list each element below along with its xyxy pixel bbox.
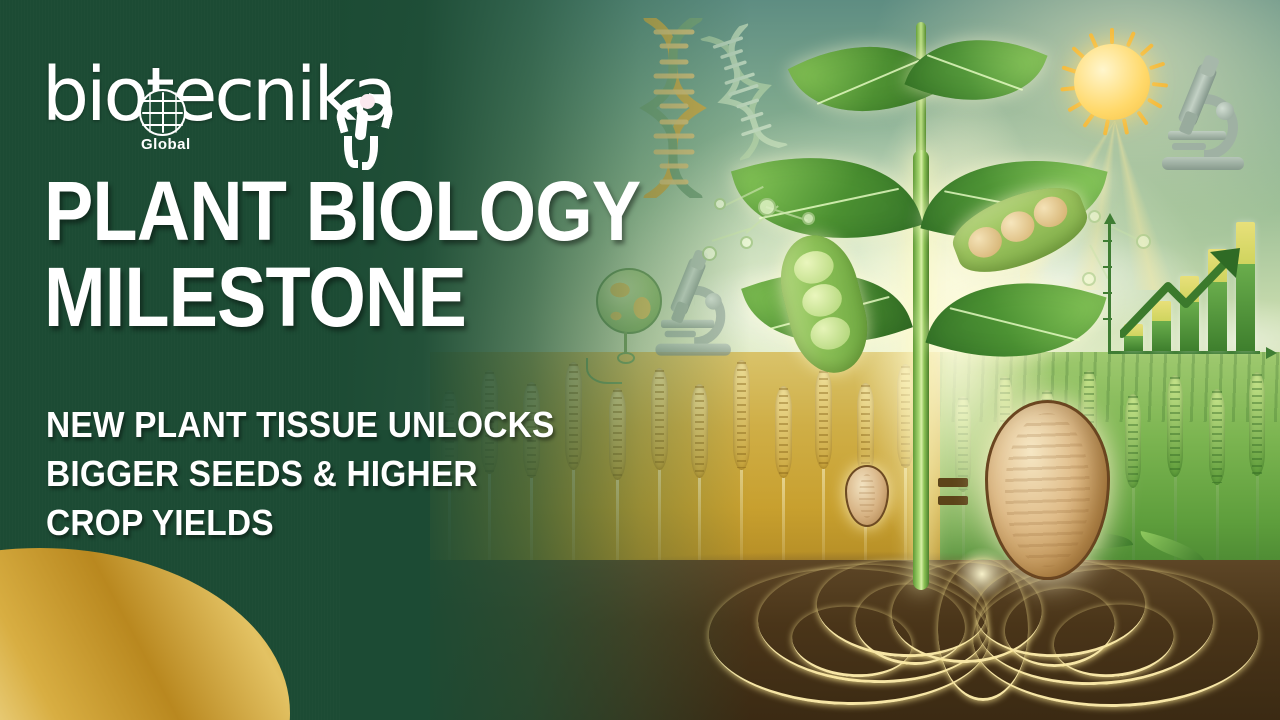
chart-y-arrowhead [1104, 213, 1116, 224]
chart-trend-arrow [1120, 246, 1250, 342]
page-subtitle: NEW PLANT TISSUE UNLOCKS BIGGER SEEDS & … [46, 400, 660, 547]
chart-x-axis [1108, 351, 1260, 354]
microscope-icon-right [1158, 60, 1252, 170]
page-title: PLANT BIOLOGY MILESTONE [44, 168, 660, 340]
growth-chart-icon [1108, 222, 1268, 372]
human-figure-icon [338, 94, 396, 168]
brand-tagline: Global [141, 136, 191, 153]
headline-line-1: PLANT BIOLOGY [44, 164, 640, 258]
roots-icon [700, 555, 1260, 720]
equals-sign [938, 478, 968, 510]
subhead-line-2: BIGGER SEEDS & HIGHER [46, 449, 660, 498]
subhead-line-3: CROP YIELDS [46, 498, 660, 547]
globe-wireframe-icon [139, 89, 186, 136]
subhead-line-1: NEW PLANT TISSUE UNLOCKS [46, 400, 660, 449]
brand-logo[interactable]: biotecnika Global [42, 56, 412, 144]
sun-icon [1058, 28, 1166, 136]
headline-line-2: MILESTONE [44, 254, 660, 340]
promo-graphic: biotecnika Global PLANT BIOLOGY MILESTON… [0, 0, 1280, 720]
chart-x-arrowhead [1266, 347, 1277, 359]
